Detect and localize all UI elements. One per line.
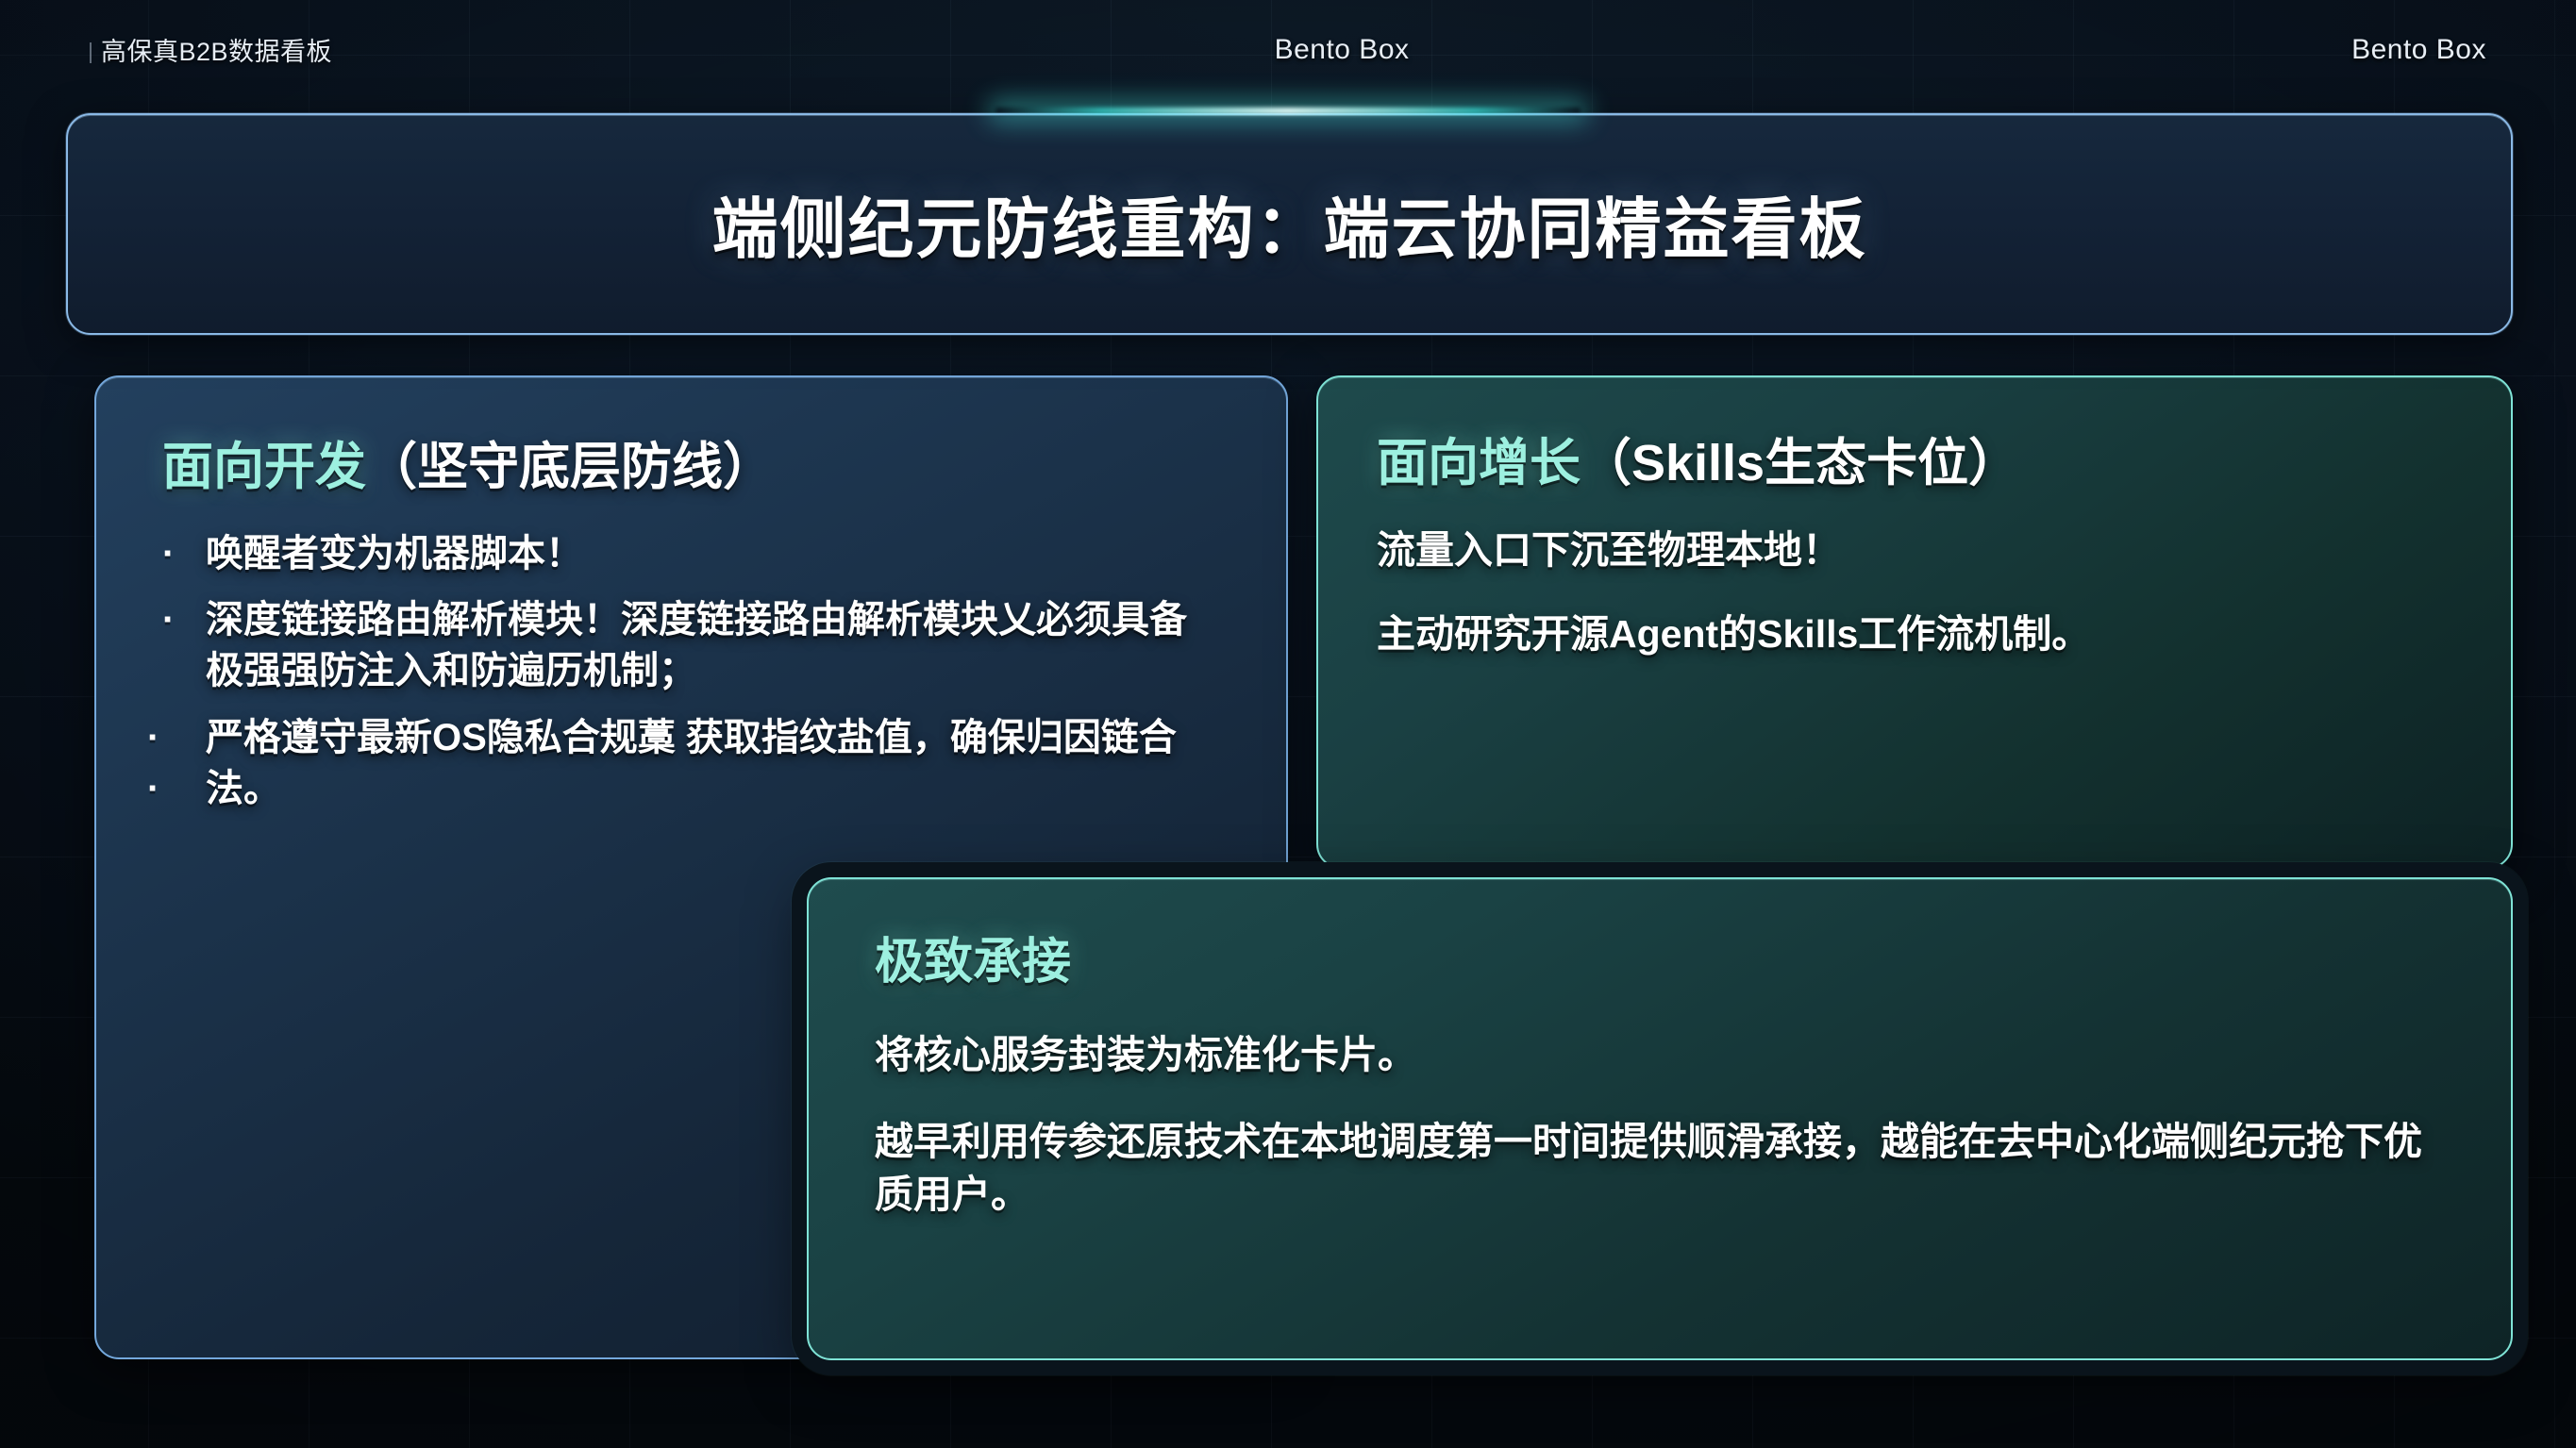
body-line: 流量入口下沉至物理本地！ xyxy=(1377,524,2452,577)
card-growth-heading: 面向增长（Skills生态卡位） xyxy=(1377,432,2452,496)
card-dev-heading: 面向开发（坚守底层防线） xyxy=(162,436,1220,500)
bullet-text: 深度链接路由解析模块！深度链接路由解析模块乂必须具备极强强防注入和防遍历机制； xyxy=(206,594,1220,697)
body-line: 将核心服务封装为标准化卡片。 xyxy=(875,1029,2445,1082)
card-growth-heading-accent: 面向增长 xyxy=(1377,435,1581,491)
paragraph: 流量入口下沉至物理本地！ xyxy=(1377,524,2452,577)
topbar-left: 高保真B2B数据看板 xyxy=(90,31,332,68)
card-capture[interactable]: 极致承接 将核心服务封装为标准化卡片。 越早利用传参还原技术在本地调度第一时间提… xyxy=(807,877,2513,1360)
card-growth-content: 面向增长（Skills生态卡位） 流量入口下沉至物理本地！ 主动研究开源Agen… xyxy=(1318,377,2511,867)
topbar-left-label: 高保真B2B数据看板 xyxy=(101,38,332,66)
card-dev-heading-plain: （坚守底层防线） xyxy=(366,439,774,495)
topbar-tick-icon xyxy=(90,42,92,63)
topbar-right: Bento Box xyxy=(2351,34,2486,66)
card-growth-heading-plain: （Skills生态卡位） xyxy=(1581,435,2019,491)
body-line: 越早利用传参还原技术在本地调度第一时间提供顺滑承接，越能在去中心化端侧纪元抢下优… xyxy=(875,1116,2445,1222)
paragraph: 将核心服务封装为标准化卡片。 xyxy=(875,1029,2445,1082)
bullet-marker-icon: · xyxy=(162,594,206,645)
list-item: · 深度链接路由解析模块！深度链接路由解析模块乂必须具备极强强防注入和防遍历机制… xyxy=(162,594,1220,697)
page-title: 端侧纪元防线重构：端云协同精益看板 xyxy=(712,176,1867,272)
bullet-text: 唤醒者变为机器脚本！ xyxy=(206,528,1220,579)
paragraph: 越早利用传参还原技术在本地调度第一时间提供顺滑承接，越能在去中心化端侧纪元抢下优… xyxy=(875,1116,2445,1222)
card-dev-bullet-list: · 唤醒者变为机器脚本！ · 深度链接路由解析模块！深度链接路由解析模块乂必须具… xyxy=(162,528,1220,815)
topbar-center-label: Bento Box xyxy=(1275,34,1410,65)
topbar-right-label: Bento Box xyxy=(2351,34,2486,65)
slide-stage: 高保真B2B数据看板 Bento Box Bento Box 端侧纪元防线重构：… xyxy=(0,0,2576,1448)
list-item: · · 严格遵守最新OS隐私合规藁 获取指纹盐值，确保归因链合法。 xyxy=(162,712,1220,815)
card-capture-heading: 极致承接 xyxy=(875,932,2445,993)
bullet-marker-icon: · · xyxy=(147,712,206,815)
card-capture-heading-accent: 极致承接 xyxy=(875,935,1071,990)
topbar-center: Bento Box xyxy=(332,34,2351,66)
top-bar: 高保真B2B数据看板 Bento Box Bento Box xyxy=(0,0,2576,99)
bullet-marker-icon: · xyxy=(162,528,206,579)
bullet-text: 严格遵守最新OS隐私合规藁 获取指纹盐值，确保归因链合法。 xyxy=(206,712,1220,815)
body-line: 主动研究开源Agent的Skills工作流机制。 xyxy=(1377,608,2452,661)
card-dev-heading-accent: 面向开发 xyxy=(162,439,366,495)
card-growth[interactable]: 面向增长（Skills生态卡位） 流量入口下沉至物理本地！ 主动研究开源Agen… xyxy=(1316,375,2513,869)
title-banner: 端侧纪元防线重构：端云协同精益看板 xyxy=(66,113,2513,335)
card-capture-body: 将核心服务封装为标准化卡片。 越早利用传参还原技术在本地调度第一时间提供顺滑承接… xyxy=(875,1029,2445,1221)
list-item: · 唤醒者变为机器脚本！ xyxy=(162,528,1220,579)
paragraph: 主动研究开源Agent的Skills工作流机制。 xyxy=(1377,608,2452,661)
card-growth-body: 流量入口下沉至物理本地！ 主动研究开源Agent的Skills工作流机制。 xyxy=(1377,524,2452,662)
card-capture-content: 极致承接 将核心服务封装为标准化卡片。 越早利用传参还原技术在本地调度第一时间提… xyxy=(809,879,2511,1358)
